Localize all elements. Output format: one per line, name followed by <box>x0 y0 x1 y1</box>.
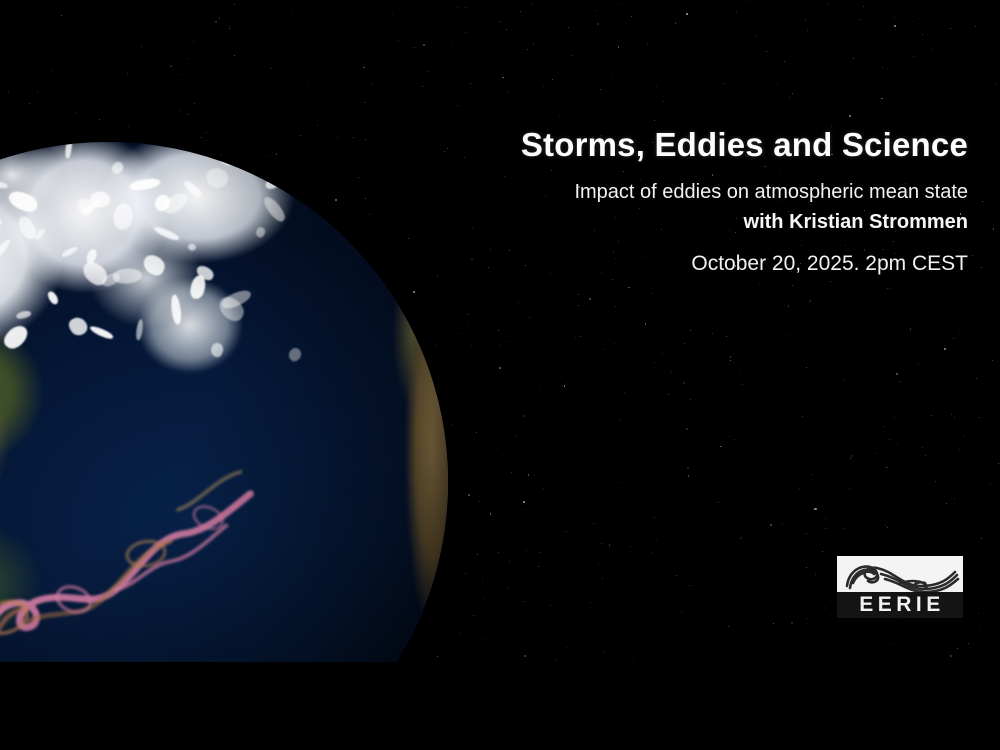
video-slide: Storms, Eddies and Science Impact of edd… <box>0 0 1000 750</box>
eerie-logo: EERIE <box>837 556 963 618</box>
eerie-wordmark: EERIE <box>837 592 963 618</box>
video-frame: Storms, Eddies and Science Impact of edd… <box>0 0 1000 662</box>
talk-speaker: with Kristian Strommen <box>408 209 968 235</box>
letterbox-bar <box>0 662 1000 750</box>
talk-subtitle: Impact of eddies on atmospheric mean sta… <box>408 179 968 205</box>
eddy-wave-icon <box>837 556 963 596</box>
page-title: Storms, Eddies and Science <box>408 126 968 165</box>
talk-datetime: October 20, 2025. 2pm CEST <box>408 250 968 278</box>
earth-globe <box>0 142 448 662</box>
talk-info: Storms, Eddies and Science Impact of edd… <box>408 126 968 277</box>
